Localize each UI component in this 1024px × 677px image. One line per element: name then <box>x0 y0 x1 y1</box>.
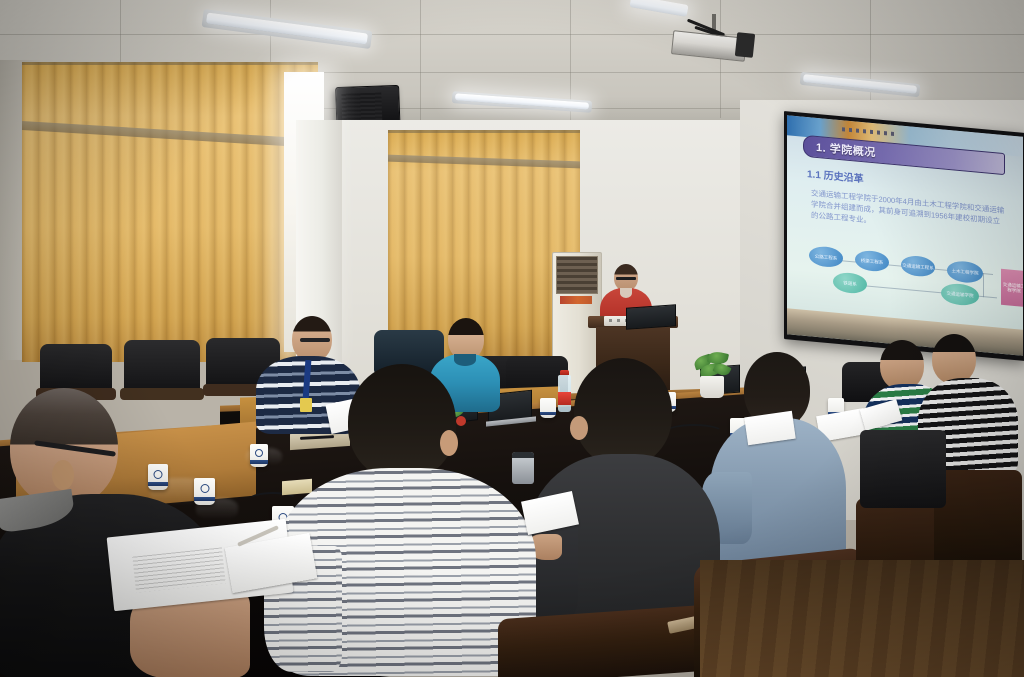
meeting-room-photo: 1. 学院概况 1.1 历史沿革 交通运输工程学院于2000年4月由土木工程学院… <box>0 0 1024 677</box>
diagram-connector-3 <box>983 273 984 297</box>
dark-tee-ear <box>570 416 588 440</box>
navy-polo-glasses <box>300 338 330 342</box>
air-conditioner-label <box>560 296 592 304</box>
striped-shirt-ear <box>440 430 458 456</box>
projector-lens <box>735 32 755 58</box>
striped-shirt-head <box>348 364 456 480</box>
chair-foreground-5[interactable] <box>860 430 950 540</box>
slide-title: 1. 学院概况 <box>816 139 876 160</box>
diagram-node-5: 铁道系 <box>833 271 867 294</box>
bw-stripe-head <box>932 334 976 384</box>
projector-assembly <box>660 14 780 74</box>
diagram-node-7: 交通运输工程学院 <box>1001 269 1023 307</box>
slide-body-text: 交通运输工程学院于2000年4月由土木工程学院和交通运输学院合并组建而成，其前身… <box>811 187 1007 238</box>
projection-screen-surface: 1. 学院概况 1.1 历史沿革 交通运输工程学院于2000年4月由土木工程学院… <box>787 115 1023 355</box>
diagram-node-1: 公路工程系 <box>809 245 843 268</box>
air-conditioner-vent <box>556 256 598 294</box>
presenter-laptop[interactable] <box>626 304 676 329</box>
chair-foreground-1[interactable] <box>498 612 708 677</box>
diagram-node-4: 土木工程学院 <box>947 260 983 284</box>
curtain-band-right <box>388 155 580 169</box>
curtain-band-left <box>22 121 318 148</box>
presenter-glasses <box>616 277 636 280</box>
black-polo-ear <box>52 460 74 490</box>
dark-tee-head <box>574 358 672 466</box>
floor-shadow <box>700 560 1024 677</box>
projection-screen[interactable]: 1. 学院概况 1.1 历史沿革 交通运输工程学院于2000年4月由土木工程学院… <box>784 111 1024 361</box>
diagram-node-2: 桥梁工程系 <box>855 249 889 272</box>
person-blue-shirt <box>710 352 850 582</box>
presenter-collar <box>620 288 632 298</box>
slide-banner-dots <box>842 127 894 136</box>
diagram-node-3: 交通运输工程系 <box>901 255 935 278</box>
slide-subtitle: 1.1 历史沿革 <box>807 165 864 185</box>
diagram-node-6: 交通运输学院 <box>941 282 979 306</box>
